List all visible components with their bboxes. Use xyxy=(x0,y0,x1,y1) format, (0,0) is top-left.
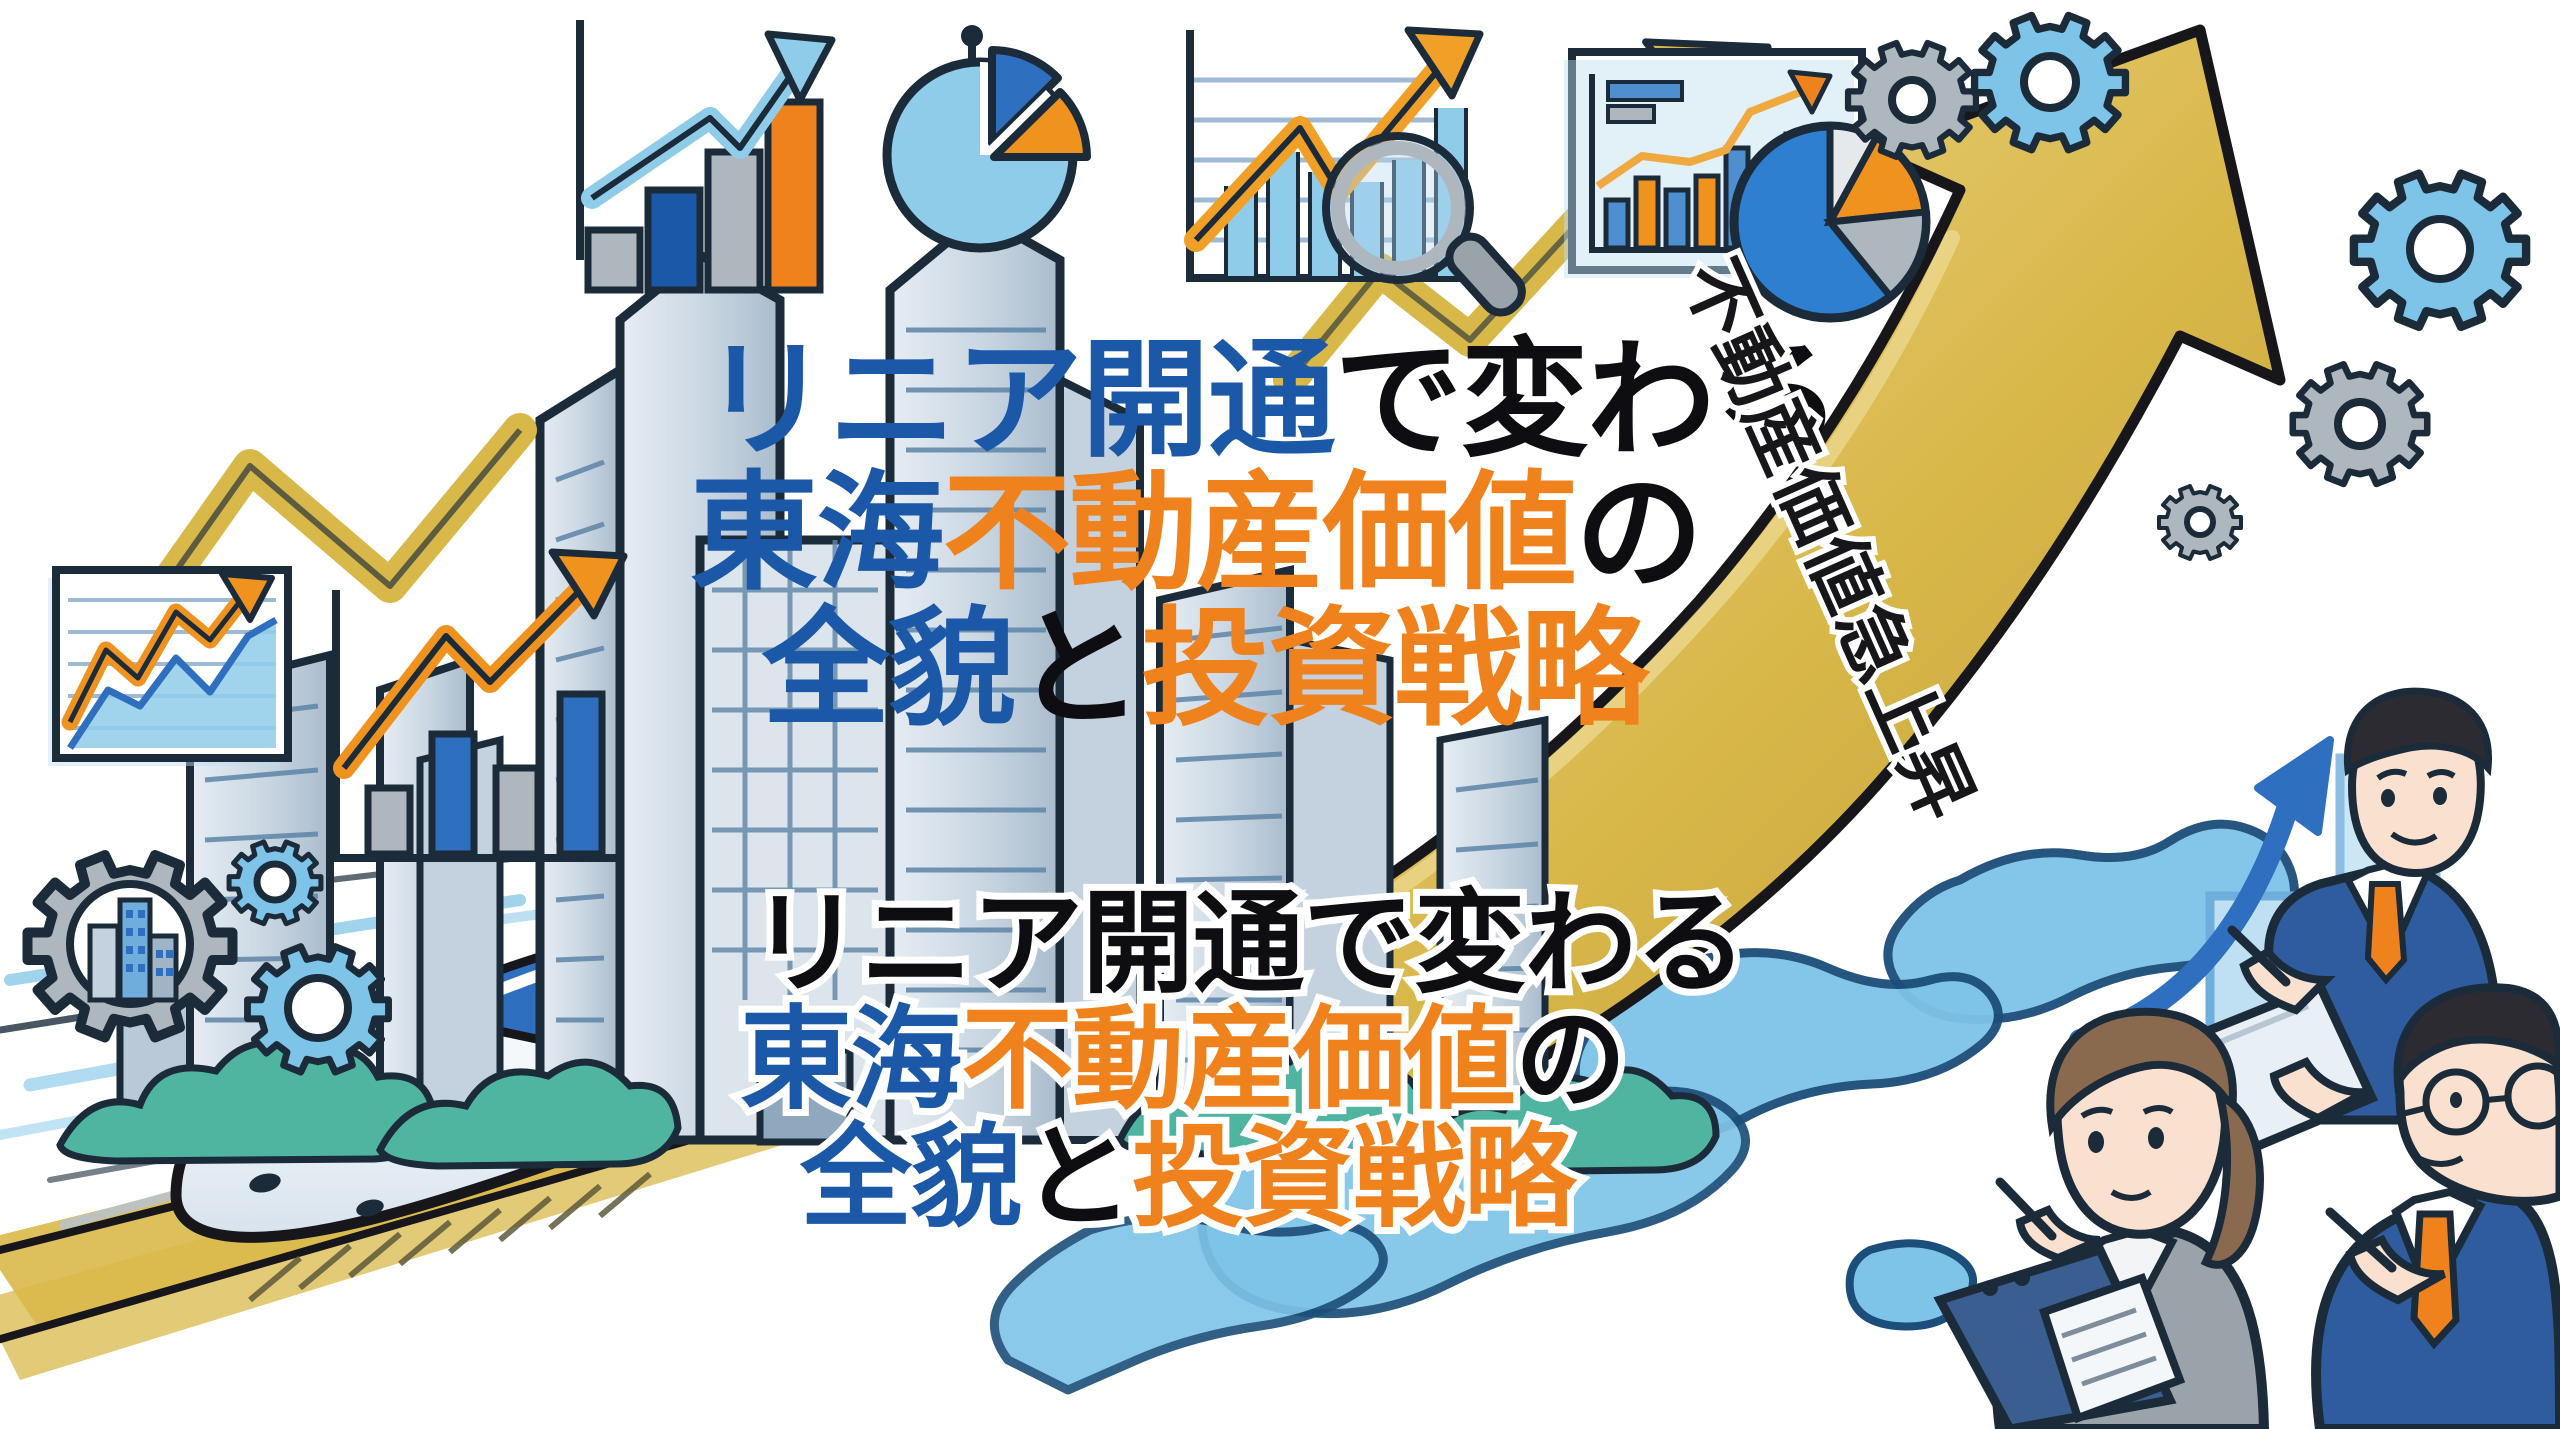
dashboard-panel xyxy=(1564,52,1862,278)
headline-secondary-line-1: リニア開通で変わる xyxy=(740,890,1746,1000)
gear-blue-medium xyxy=(247,947,388,1073)
headline-secondary: リニア開通で変わる 東海不動産価値の 全貌と投資戦略 xyxy=(740,890,1746,1233)
people-group xyxy=(1940,691,2560,1429)
businessman-standing xyxy=(2180,691,2496,1156)
headline-secondary-line-2: 東海不動産価値の xyxy=(740,1006,1746,1116)
gear-city-badge xyxy=(28,855,233,1038)
gear-gray-person xyxy=(2159,486,2241,559)
poster-canvas: リニア開通で変わる 東海不動産価値の 全貌と投資戦略 不動産価値急上昇 リニア開… xyxy=(0,0,2560,1429)
speed-lines xyxy=(0,830,830,1180)
chart-pie-top-left xyxy=(887,50,1087,248)
chart-bar-mid-left xyxy=(336,552,624,858)
headline-secondary-line-3: 全貌と投資戦略 xyxy=(740,1124,1746,1234)
headline-primary-line-2: 東海不動産価値の xyxy=(690,471,1840,596)
gear-gray-top xyxy=(1848,43,1976,157)
magnifying-glass xyxy=(1326,136,1529,320)
chart-area-card xyxy=(48,570,288,766)
headline-primary-line-1: リニア開通で変わる xyxy=(690,338,1840,463)
chart-bar-person-bg xyxy=(2080,740,2456,1076)
gear-gray-right xyxy=(2293,364,2427,484)
gear-blue-small xyxy=(229,842,321,924)
headline-primary: リニア開通で変わる 東海不動産価値の 全貌と投資戦略 xyxy=(690,338,1840,732)
businessman-glasses xyxy=(2316,987,2560,1429)
headline-primary-line-3: 全貌と投資戦略 xyxy=(690,607,1840,732)
businesswoman xyxy=(1940,1012,2264,1429)
chart-bar-top-left xyxy=(580,20,832,290)
chart-bar-magnifier xyxy=(1190,30,1529,320)
gear-blue-top xyxy=(1975,15,2126,149)
gear-blue-right xyxy=(2354,174,2526,327)
